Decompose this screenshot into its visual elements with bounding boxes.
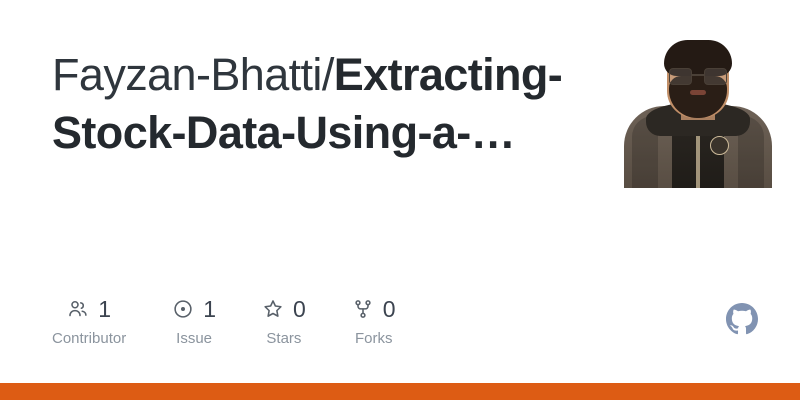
repository-social-preview-card: Fayzan-Bhatti/Extracting-Stock-Data-Usin…	[0, 0, 800, 400]
repository-title-block: Fayzan-Bhatti/Extracting-Stock-Data-Usin…	[52, 46, 572, 162]
stat-contributors-value: 1	[98, 298, 111, 321]
stat-issues: 1 Issue	[172, 295, 216, 347]
avatar	[612, 18, 784, 188]
stat-forks: 0 Forks	[352, 295, 396, 347]
avatar-lens-right	[704, 68, 727, 85]
repository-stats: 1 Contributor 1 Issue	[52, 295, 396, 347]
repository-owner: Fayzan-Bhatti	[52, 49, 322, 100]
stat-stars-top: 0	[262, 295, 306, 323]
stat-forks-label: Forks	[355, 330, 393, 347]
stat-forks-value: 0	[383, 298, 396, 321]
avatar-glasses	[669, 68, 727, 84]
star-icon	[262, 298, 284, 320]
stat-stars-label: Stars	[266, 330, 301, 347]
stat-issues-value: 1	[203, 298, 216, 321]
stat-stars-value: 0	[293, 298, 306, 321]
stat-contributors-top: 1	[67, 295, 111, 323]
stat-issues-top: 1	[172, 295, 216, 323]
avatar-chest-badge	[710, 136, 729, 155]
stat-issues-label: Issue	[176, 330, 212, 347]
repository-separator: /	[322, 49, 334, 100]
stat-contributors: 1 Contributor	[52, 295, 126, 347]
github-mark-icon	[726, 303, 758, 335]
avatar-lens-left	[669, 68, 692, 85]
accent-bar	[0, 383, 800, 400]
page-title: Fayzan-Bhatti/Extracting-Stock-Data-Usin…	[52, 46, 572, 162]
avatar-photo	[612, 18, 784, 188]
avatar-mouth	[690, 90, 706, 95]
stat-contributors-label: Contributor	[52, 330, 126, 347]
avatar-eyebrow-left	[669, 62, 689, 66]
avatar-eyebrow-right	[707, 62, 727, 66]
issue-opened-icon	[172, 298, 194, 320]
stat-stars: 0 Stars	[262, 295, 306, 347]
avatar-glasses-bridge	[691, 74, 705, 76]
repo-forked-icon	[352, 298, 374, 320]
stat-forks-top: 0	[352, 295, 396, 323]
people-icon	[67, 298, 89, 320]
